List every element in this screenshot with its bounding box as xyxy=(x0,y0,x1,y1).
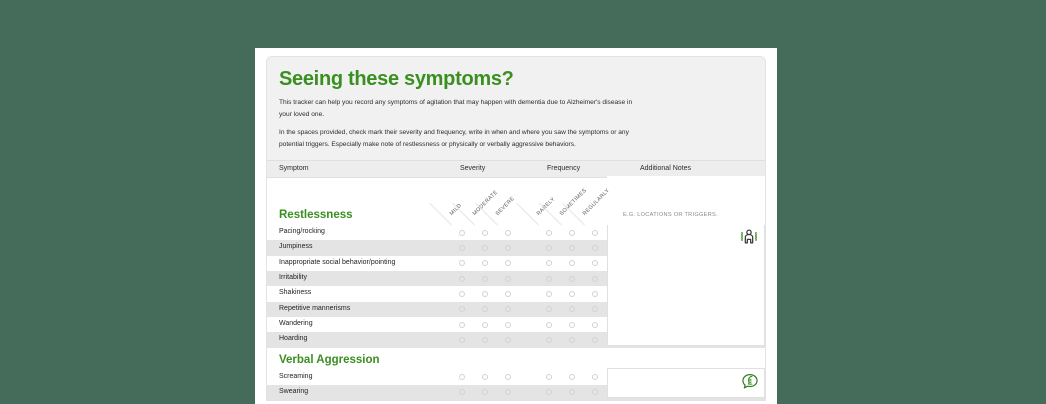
symptom-label: Repetitive mannerisms xyxy=(279,305,350,312)
checkbox-dot[interactable] xyxy=(505,260,511,266)
group-title-restlessness: Restlessness xyxy=(279,209,353,221)
checkbox-dot[interactable] xyxy=(546,276,552,282)
symptom-label: Screaming xyxy=(279,373,312,380)
checkbox-dot[interactable] xyxy=(459,337,465,343)
checkbox-dot[interactable] xyxy=(505,230,511,236)
symptom-table: Symptom Severity Frequency Additional No… xyxy=(267,160,765,400)
checkbox-dot[interactable] xyxy=(505,306,511,312)
column-header-frequency: Frequency xyxy=(547,165,580,172)
checkbox-dot[interactable] xyxy=(569,337,575,343)
checkbox-dot[interactable] xyxy=(592,260,598,266)
axis-label-severe: SEVERE xyxy=(495,196,516,217)
checkbox-dot[interactable] xyxy=(505,337,511,343)
notes-hint: E.G. LOCATIONS OR TRIGGERS. xyxy=(623,212,718,218)
column-header-symptom: Symptom xyxy=(279,165,309,172)
checkbox-dot[interactable] xyxy=(546,260,552,266)
checkbox-dot[interactable] xyxy=(569,291,575,297)
checkbox-dot[interactable] xyxy=(505,322,511,328)
checkbox-dot[interactable] xyxy=(569,322,575,328)
additional-notes-box[interactable] xyxy=(607,368,765,399)
checkbox-dot[interactable] xyxy=(592,337,598,343)
checkbox-dot[interactable] xyxy=(505,374,511,380)
axis-label-band: MILDMODERATESEVERERARELYSOMETIMESREGULAR… xyxy=(267,178,765,225)
checkbox-dot[interactable] xyxy=(569,389,575,395)
checkbox-dot[interactable] xyxy=(569,374,575,380)
checkbox-dot[interactable] xyxy=(592,322,598,328)
checkbox-dot[interactable] xyxy=(482,306,488,312)
checkbox-dot[interactable] xyxy=(592,306,598,312)
checkbox-dot[interactable] xyxy=(459,306,465,312)
symptom-label: Shakiness xyxy=(279,289,311,296)
checkbox-dot[interactable] xyxy=(459,245,465,251)
column-header-severity: Severity xyxy=(460,165,485,172)
additional-notes-box[interactable] xyxy=(607,223,765,345)
symptom-label: Pacing/rocking xyxy=(279,228,325,235)
checkbox-dot[interactable] xyxy=(569,276,575,282)
checkbox-dot[interactable] xyxy=(546,291,552,297)
checkbox-dot[interactable] xyxy=(482,337,488,343)
checkbox-dot[interactable] xyxy=(592,374,598,380)
speech-bubble-head-icon-wrapper xyxy=(741,373,759,396)
checkbox-dot[interactable] xyxy=(459,374,465,380)
group-title-verbal-aggression: Verbal Aggression xyxy=(279,354,380,366)
checkbox-dot[interactable] xyxy=(546,374,552,380)
restless-person-icon-wrapper xyxy=(739,228,759,253)
checkbox-dot[interactable] xyxy=(482,245,488,251)
checkbox-dot[interactable] xyxy=(569,260,575,266)
checkbox-dot[interactable] xyxy=(482,389,488,395)
intro-section: Seeing these symptoms? This tracker can … xyxy=(267,69,765,160)
checkbox-dot[interactable] xyxy=(546,306,552,312)
axis-label-rarely: RARELY xyxy=(536,196,557,217)
checkbox-dot[interactable] xyxy=(459,389,465,395)
intro-paragraph-1: This tracker can help you record any sym… xyxy=(279,97,635,120)
symptom-label: Irritability xyxy=(279,274,307,281)
axis-separator-line xyxy=(516,203,539,226)
symptom-label: Wandering xyxy=(279,320,313,327)
checkbox-dot[interactable] xyxy=(459,276,465,282)
checkbox-dot[interactable] xyxy=(459,291,465,297)
checkbox-dot[interactable] xyxy=(505,276,511,282)
checkbox-dot[interactable] xyxy=(592,230,598,236)
page-title: Seeing these symptoms? xyxy=(279,69,753,90)
restless-person-icon xyxy=(739,228,759,248)
checkbox-dot[interactable] xyxy=(546,337,552,343)
intro-paragraph-2: In the spaces provided, check mark their… xyxy=(279,127,635,150)
checkbox-dot[interactable] xyxy=(569,245,575,251)
tracker-panel: Seeing these symptoms? This tracker can … xyxy=(266,56,766,401)
checkbox-dot[interactable] xyxy=(482,322,488,328)
checkbox-dot[interactable] xyxy=(569,306,575,312)
checkbox-dot[interactable] xyxy=(459,260,465,266)
checkbox-dot[interactable] xyxy=(546,245,552,251)
symptom-label: Inappropriate social behavior/pointing xyxy=(279,259,395,266)
group-header: Verbal Aggression xyxy=(267,348,765,370)
checkbox-dot[interactable] xyxy=(505,389,511,395)
checkbox-dot[interactable] xyxy=(482,291,488,297)
checkbox-dot[interactable] xyxy=(459,230,465,236)
screenshot-root: Seeing these symptoms? This tracker can … xyxy=(0,0,1046,404)
checkbox-dot[interactable] xyxy=(592,276,598,282)
checkbox-dot[interactable] xyxy=(505,245,511,251)
checkbox-dot[interactable] xyxy=(546,230,552,236)
symptom-label: Hoarding xyxy=(279,335,307,342)
checkbox-dot[interactable] xyxy=(546,389,552,395)
checkbox-dot[interactable] xyxy=(459,322,465,328)
checkbox-dot[interactable] xyxy=(505,291,511,297)
checkbox-dot[interactable] xyxy=(546,322,552,328)
checkbox-dot[interactable] xyxy=(482,374,488,380)
checkbox-dot[interactable] xyxy=(569,230,575,236)
speech-bubble-head-icon xyxy=(741,373,759,391)
checkbox-dot[interactable] xyxy=(592,291,598,297)
checkbox-dot[interactable] xyxy=(482,230,488,236)
checkbox-dot[interactable] xyxy=(482,260,488,266)
axis-separator-line xyxy=(429,203,452,226)
symptom-label: Swearing xyxy=(279,388,308,395)
checkbox-dot[interactable] xyxy=(592,245,598,251)
column-header-additional-notes: Additional Notes xyxy=(640,165,691,172)
checkbox-dot[interactable] xyxy=(482,276,488,282)
checkbox-dot[interactable] xyxy=(592,389,598,395)
tracker-page: Seeing these symptoms? This tracker can … xyxy=(255,48,777,404)
symptom-label: Jumpiness xyxy=(279,243,312,250)
